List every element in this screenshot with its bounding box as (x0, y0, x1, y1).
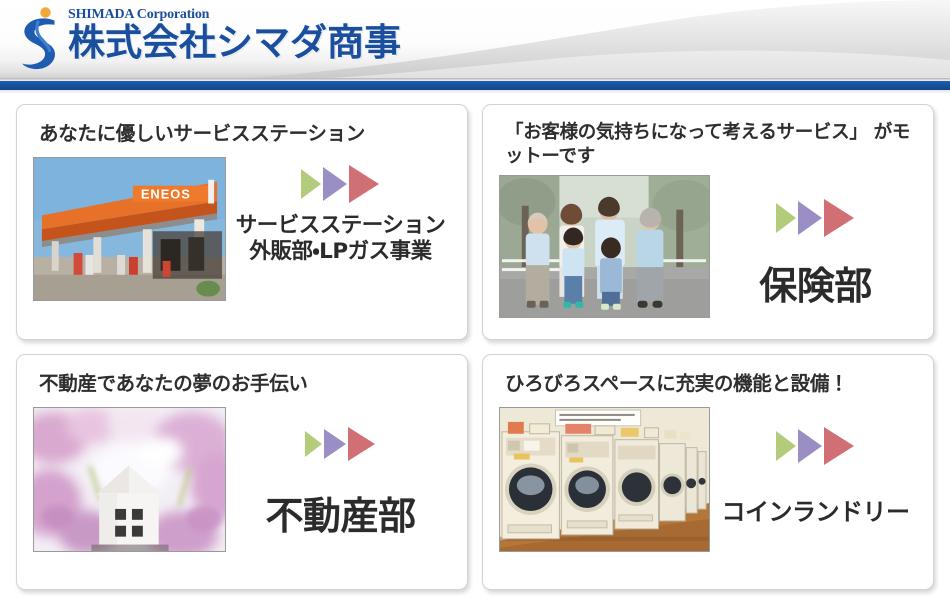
card-title: ひろびろスペースに充実の機能と設備！ (505, 371, 921, 397)
dept-label: 不動産部 (265, 495, 415, 538)
card-coin-laundry[interactable]: ひろびろスペースに充実の機能と設備！ (482, 354, 934, 590)
photo-service-station: ENEOS (33, 157, 226, 301)
card-insurance[interactable]: 「お客様の気持ちになって考えるサービス」 がモットーです (482, 104, 934, 340)
site-header: SHIMADA Corporation 株式会社シマダ商事 (0, 0, 950, 78)
company-name-jp: 株式会社シマダ商事 (68, 23, 401, 63)
card-right-column: 保険部 (710, 175, 921, 308)
card-service-station[interactable]: あなたに優しいサービスステーション ENEOS (16, 104, 468, 340)
card-right-column: 不動産部 (226, 407, 455, 538)
card-right-column: コインランドリー (710, 407, 921, 526)
card-body: ENEOS (33, 157, 455, 301)
card-body: 不動産部 (33, 407, 455, 552)
company-name-en: SHIMADA Corporation (68, 8, 401, 22)
card-body: コインランドリー (499, 407, 921, 552)
dept-label: 保険部 (759, 265, 872, 308)
photo-coin-laundry (499, 407, 710, 552)
triple-arrow-icon (299, 163, 383, 205)
svg-text:ENEOS: ENEOS (141, 187, 191, 202)
triple-arrow-icon (303, 425, 379, 463)
triple-arrow-icon (774, 197, 858, 239)
card-title: 「お客様の気持ちになって考えるサービス」 がモットーです (505, 121, 921, 169)
dept-label: コインランドリー (722, 499, 910, 526)
card-real-estate[interactable]: 不動産であなたの夢のお手伝い (16, 354, 468, 590)
card-body: 保険部 (499, 175, 921, 318)
card-right-column: サービスステーション 外販部・LPガス事業 (226, 157, 455, 265)
business-card-grid: あなたに優しいサービスステーション ENEOS (0, 94, 950, 590)
triple-arrow-icon (774, 425, 858, 467)
card-title: 不動産であなたの夢のお手伝い (39, 371, 455, 397)
site-logo[interactable]: SHIMADA Corporation 株式会社シマダ商事 (14, 2, 401, 74)
dept-label: サービスステーション 外販部・LPガス事業 (236, 213, 446, 265)
photo-house-sakura (33, 407, 226, 552)
photo-family (499, 175, 710, 318)
card-title: あなたに優しいサービスステーション (39, 121, 455, 147)
header-accent-band (0, 81, 950, 90)
shimada-s-mark-icon (14, 2, 66, 74)
